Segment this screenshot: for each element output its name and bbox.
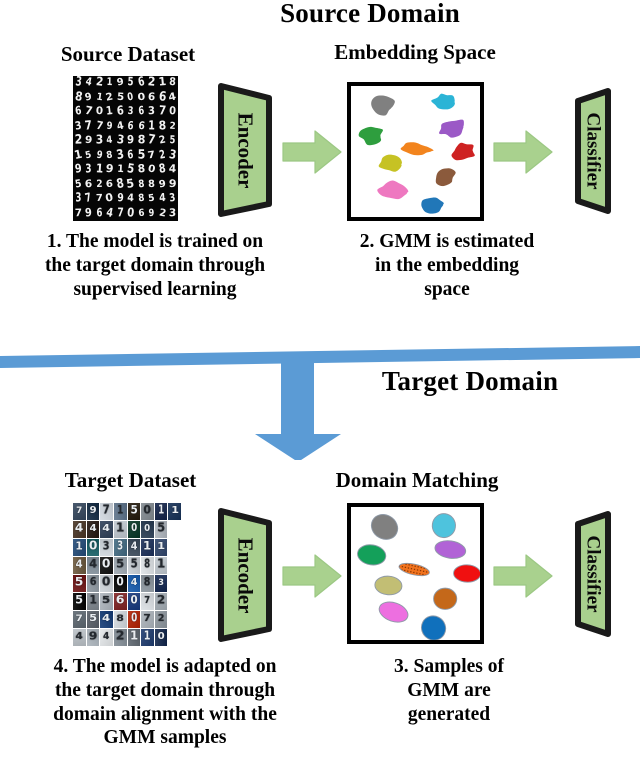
cluster-cluster-9 [376, 179, 409, 201]
svhn-digit-cell: 1 [141, 539, 154, 556]
svhn-digit-cell: 5 [87, 611, 100, 628]
mnist-digit-cell: 1 [115, 163, 126, 178]
mnist-digit-cell: 8 [73, 91, 84, 106]
mnist-digit-cell: 4 [157, 192, 168, 207]
source-encoder-block[interactable]: Encoder [216, 80, 274, 220]
target-caption-right-line-2: GMM are [334, 679, 564, 703]
mnist-digit-cell: 9 [147, 207, 158, 222]
cluster-cluster-3 [358, 126, 383, 146]
embedding-cluster-plot [351, 86, 480, 217]
mnist-digit-cell: 2 [73, 134, 84, 149]
svhn-digit-cell: 0 [114, 575, 127, 592]
mnist-digit-cell: 0 [147, 163, 158, 178]
svhn-digit-cell [168, 611, 181, 628]
source-classifier-block[interactable]: Classifier [572, 85, 614, 217]
svhn-digit-cell: 4 [73, 521, 86, 538]
target-caption-left: 4. The model is adapted on the target do… [0, 655, 330, 750]
mnist-digit-cell: 0 [94, 105, 105, 120]
mnist-digit-cell: 7 [84, 192, 95, 207]
source-caption-left: 1. The model is trained on the target do… [0, 230, 310, 301]
svhn-digit-cell: 4 [73, 557, 86, 574]
mnist-digit-cell: 7 [94, 192, 105, 207]
mnist-digit-cell: 6 [84, 178, 95, 193]
cluster-cluster-8 [435, 166, 456, 188]
mnist-digit-cell: 4 [168, 91, 179, 106]
mnist-digit-cell: 1 [94, 163, 105, 178]
cluster-gmm-3 [356, 543, 387, 567]
target-encoder-block[interactable]: Encoder [216, 505, 274, 645]
svhn-digit-cell: 7 [141, 611, 154, 628]
domain-matching-label: Domain Matching [297, 468, 537, 493]
mnist-digit-cell: 1 [105, 76, 116, 91]
cluster-gmm-6 [453, 564, 480, 582]
mnist-digit-cell: 5 [126, 163, 137, 178]
mnist-digit-cell: 9 [73, 163, 84, 178]
mnist-digit-cell: 6 [94, 207, 105, 222]
svhn-digit-cell: 4 [128, 575, 141, 592]
svhn-digit-cell: 0 [128, 593, 141, 610]
mnist-digit-cell: 7 [84, 105, 95, 120]
mnist-digit-cell: 8 [115, 178, 126, 193]
target-domain-title: Target Domain [330, 366, 610, 397]
mnist-digit-cell: 7 [94, 120, 105, 135]
source-encoder-label: Encoder [233, 112, 258, 188]
mnist-digit-grid: 3421956218891250066467016363703779466182… [73, 76, 178, 221]
mnist-digit-cell: 8 [157, 163, 168, 178]
mnist-digit-cell: 5 [136, 149, 147, 164]
target-caption-left-line-3: domain alignment with the [0, 703, 330, 727]
mnist-digit-cell: 3 [94, 134, 105, 149]
svhn-digit-cell: 4 [100, 629, 113, 646]
svhn-digit-cell: 3 [155, 575, 168, 592]
cluster-gmm-9 [377, 598, 411, 625]
mnist-digit-cell: 4 [115, 120, 126, 135]
svhn-digit-cell [168, 539, 181, 556]
svhn-digit-cell: 0 [100, 557, 113, 574]
source-caption-right-line-2: in the embedding [312, 254, 582, 278]
domain-matching-cluster-plot [351, 507, 480, 640]
svhn-digit-cell: 0 [87, 539, 100, 556]
svhn-digit-cell: 5 [73, 593, 86, 610]
cluster-gmm-4 [434, 539, 467, 561]
mnist-digit-cell: 2 [157, 149, 168, 164]
svhn-digit-cell: 1 [141, 629, 154, 646]
svhn-digit-cell [168, 521, 181, 538]
mnist-digit-cell: 0 [168, 105, 179, 120]
source-caption-right-line-1: 2. GMM is estimated [312, 230, 582, 254]
svhn-digit-cell: 1 [128, 629, 141, 646]
target-caption-left-line-1: 4. The model is adapted on [0, 655, 330, 679]
mnist-digit-cell: 6 [73, 105, 84, 120]
mnist-digit-cell: 6 [105, 178, 116, 193]
mnist-digit-cell: 6 [136, 76, 147, 91]
mnist-digit-cell: 2 [157, 207, 168, 222]
svhn-digit-cell: 1 [168, 503, 181, 520]
mnist-digit-cell: 6 [136, 207, 147, 222]
mnist-digit-cell: 4 [105, 134, 116, 149]
cluster-cluster-2 [430, 92, 455, 112]
cluster-cluster-1 [369, 93, 396, 117]
mnist-digit-cell: 6 [157, 91, 168, 106]
svhn-digit-cell: 1 [73, 539, 86, 556]
source-caption-right: 2. GMM is estimated in the embedding spa… [312, 230, 582, 301]
svhn-digit-cell: 5 [128, 557, 141, 574]
svhn-digit-cell: 5 [100, 593, 113, 610]
mnist-digit-cell: 3 [84, 163, 95, 178]
mnist-digit-cell: 9 [105, 163, 116, 178]
mnist-digit-cell: 7 [157, 105, 168, 120]
svhn-digit-cell [168, 557, 181, 574]
mnist-digit-cell: 2 [168, 120, 179, 135]
cluster-gmm-8 [434, 588, 457, 609]
mnist-digit-cell: 1 [73, 149, 84, 164]
mnist-digit-cell: 4 [105, 207, 116, 222]
svhn-digit-cell: 1 [87, 593, 100, 610]
svhn-digit-cell: 8 [141, 575, 154, 592]
svhn-digit-cell: 6 [87, 575, 100, 592]
mnist-digit-cell: 4 [84, 76, 95, 91]
right-arrow-icon [492, 552, 554, 600]
mnist-digit-cell: 9 [157, 178, 168, 193]
svhn-digit-cell: 7 [141, 593, 154, 610]
svhn-digit-cell: 8 [114, 611, 127, 628]
mnist-digit-cell: 8 [136, 178, 147, 193]
svhn-digit-cell: 0 [128, 611, 141, 628]
mnist-digit-cell: 8 [147, 178, 158, 193]
mnist-digit-cell: 0 [105, 192, 116, 207]
source-dataset-image: 3421956218891250066467016363703779466182… [73, 76, 178, 221]
svhn-digit-cell: 0 [128, 521, 141, 538]
svhn-digit-cell: 7 [73, 611, 86, 628]
mnist-digit-cell: 3 [115, 149, 126, 164]
mnist-digit-cell: 5 [147, 192, 158, 207]
svhn-digit-cell: 4 [100, 611, 113, 628]
mnist-digit-cell: 7 [84, 120, 95, 135]
cluster-gmm-1 [367, 510, 402, 544]
svhn-digit-cell: 5 [128, 503, 141, 520]
mnist-digit-cell: 1 [94, 91, 105, 106]
mnist-digit-cell: 9 [84, 207, 95, 222]
mnist-digit-cell: 5 [73, 178, 84, 193]
svhn-digit-cell: 5 [73, 575, 86, 592]
mnist-digit-cell: 3 [168, 149, 179, 164]
svhn-digit-cell: 6 [114, 593, 127, 610]
target-caption-left-line-4: GMM samples [0, 726, 330, 750]
target-arrow-matching-to-classifier [492, 552, 554, 600]
embedding-space-box [347, 82, 484, 221]
target-encoder-label: Encoder [233, 537, 258, 613]
mnist-digit-cell: 9 [115, 76, 126, 91]
mnist-digit-cell: 3 [168, 192, 179, 207]
mnist-digit-cell: 8 [136, 192, 147, 207]
svhn-digit-cell: 1 [114, 521, 127, 538]
mnist-digit-cell: 4 [126, 192, 137, 207]
source-arrow-encoder-to-embedding [281, 128, 343, 176]
mnist-digit-cell: 8 [136, 134, 147, 149]
mnist-digit-cell: 7 [147, 149, 158, 164]
mnist-digit-cell: 9 [105, 120, 116, 135]
svhn-digit-cell [168, 629, 181, 646]
cluster-gmm-2 [431, 512, 457, 539]
target-caption-left-line-2: the target domain through [0, 679, 330, 703]
source-caption-right-line-3: space [312, 278, 582, 302]
mnist-digit-cell: 6 [136, 120, 147, 135]
target-caption-right-line-1: 3. Samples of [334, 655, 564, 679]
svhn-digit-cell: 4 [128, 539, 141, 556]
svhn-digit-cell: 5 [155, 521, 168, 538]
cluster-cluster-6 [450, 142, 475, 161]
down-arrow-banner-icon [0, 344, 640, 460]
svhn-digit-cell: 4 [100, 521, 113, 538]
mnist-digit-cell: 3 [147, 105, 158, 120]
source-dataset-label: Source Dataset [28, 42, 228, 67]
svhn-digit-cell: 8 [141, 557, 154, 574]
right-arrow-icon [281, 552, 343, 600]
svhn-digit-cell: 0 [100, 575, 113, 592]
mnist-digit-cell: 0 [126, 207, 137, 222]
cluster-gmm-5 [398, 561, 430, 578]
mnist-digit-cell: 1 [105, 105, 116, 120]
source-caption-left-line-1: 1. The model is trained on [0, 230, 310, 254]
target-classifier-label: Classifier [582, 535, 604, 612]
svhn-digit-cell: 0 [155, 629, 168, 646]
mnist-digit-cell: 2 [157, 134, 168, 149]
mnist-digit-cell: 8 [157, 120, 168, 135]
source-domain-title: Source Domain [220, 0, 520, 29]
source-caption-left-line-2: the target domain through [0, 254, 310, 278]
cluster-gmm-10 [417, 612, 450, 640]
mnist-digit-cell: 6 [115, 105, 126, 120]
mnist-digit-cell: 9 [168, 178, 179, 193]
mnist-digit-cell: 2 [105, 91, 116, 106]
mnist-digit-cell: 0 [126, 91, 137, 106]
mnist-digit-cell: 2 [94, 178, 105, 193]
target-caption-right-line-3: generated [334, 703, 564, 727]
target-caption-right: 3. Samples of GMM are generated [334, 655, 564, 726]
svhn-digit-grid: 7971501144410051033411440558156004835156… [73, 503, 181, 646]
cluster-cluster-4 [437, 118, 467, 141]
svhn-digit-cell: 1 [155, 557, 168, 574]
svhn-digit-cell: 4 [87, 557, 100, 574]
mnist-digit-cell: 4 [168, 163, 179, 178]
mnist-digit-cell: 9 [115, 192, 126, 207]
mnist-digit-cell: 6 [126, 149, 137, 164]
svhn-digit-cell: 1 [114, 503, 127, 520]
svhn-digit-cell: 0 [141, 521, 154, 538]
mnist-digit-cell: 9 [84, 91, 95, 106]
mnist-digit-cell: 1 [157, 76, 168, 91]
mnist-digit-cell: 5 [126, 76, 137, 91]
right-arrow-icon [281, 128, 343, 176]
mnist-digit-cell: 3 [73, 76, 84, 91]
svhn-digit-cell: 4 [87, 521, 100, 538]
mnist-digit-cell: 3 [115, 134, 126, 149]
mnist-digit-cell: 2 [147, 76, 158, 91]
svhn-digit-cell [168, 593, 181, 610]
svhn-digit-cell: 0 [141, 503, 154, 520]
svhn-digit-cell: 3 [100, 539, 113, 556]
target-classifier-block[interactable]: Classifier [572, 508, 614, 640]
svhn-digit-cell: 7 [73, 503, 86, 520]
source-classifier-label: Classifier [582, 112, 604, 189]
cluster-cluster-5 [400, 141, 434, 157]
svhn-digit-cell: 4 [73, 629, 86, 646]
mnist-digit-cell: 5 [168, 134, 179, 149]
mnist-digit-cell: 0 [136, 91, 147, 106]
mnist-digit-cell: 7 [73, 207, 84, 222]
target-arrow-encoder-to-matching [281, 552, 343, 600]
mnist-digit-cell: 9 [94, 149, 105, 164]
mnist-digit-cell: 9 [126, 134, 137, 149]
mnist-digit-cell: 5 [84, 149, 95, 164]
embedding-space-label: Embedding Space [300, 40, 530, 65]
mnist-digit-cell: 5 [126, 178, 137, 193]
mnist-digit-cell: 5 [115, 91, 126, 106]
section-divider-arrow [0, 344, 640, 460]
mnist-digit-cell: 3 [73, 120, 84, 135]
svhn-digit-cell: 1 [155, 539, 168, 556]
mnist-digit-cell: 8 [136, 163, 147, 178]
target-dataset-image: 7971501144410051033411440558156004835156… [73, 503, 181, 646]
cluster-gmm-7 [374, 575, 402, 596]
mnist-digit-cell: 8 [105, 149, 116, 164]
mnist-digit-cell: 7 [147, 134, 158, 149]
cluster-cluster-7 [378, 154, 402, 173]
target-dataset-label: Target Dataset [28, 468, 233, 493]
right-arrow-icon [492, 128, 554, 176]
svhn-digit-cell: 2 [114, 629, 127, 646]
mnist-digit-cell: 7 [115, 207, 126, 222]
mnist-digit-cell: 8 [168, 76, 179, 91]
svhn-digit-cell: 2 [155, 611, 168, 628]
svhn-digit-cell: 2 [155, 593, 168, 610]
svhn-digit-cell: 9 [87, 503, 100, 520]
svhn-digit-cell: 5 [114, 557, 127, 574]
source-arrow-embedding-to-classifier [492, 128, 554, 176]
svhn-digit-cell: 3 [114, 539, 127, 556]
mnist-digit-cell: 3 [126, 105, 137, 120]
domain-matching-box [347, 503, 484, 644]
mnist-digit-cell: 6 [136, 105, 147, 120]
svhn-digit-cell: 1 [155, 503, 168, 520]
svhn-digit-cell: 9 [87, 629, 100, 646]
mnist-digit-cell: 6 [126, 120, 137, 135]
mnist-digit-cell: 3 [73, 192, 84, 207]
svhn-digit-cell [168, 575, 181, 592]
mnist-digit-cell: 3 [168, 207, 179, 222]
mnist-digit-cell: 6 [147, 91, 158, 106]
mnist-digit-cell: 9 [84, 134, 95, 149]
cluster-cluster-10 [420, 196, 445, 215]
source-caption-left-line-3: supervised learning [0, 278, 310, 302]
mnist-digit-cell: 2 [94, 76, 105, 91]
svhn-digit-cell: 7 [100, 503, 113, 520]
